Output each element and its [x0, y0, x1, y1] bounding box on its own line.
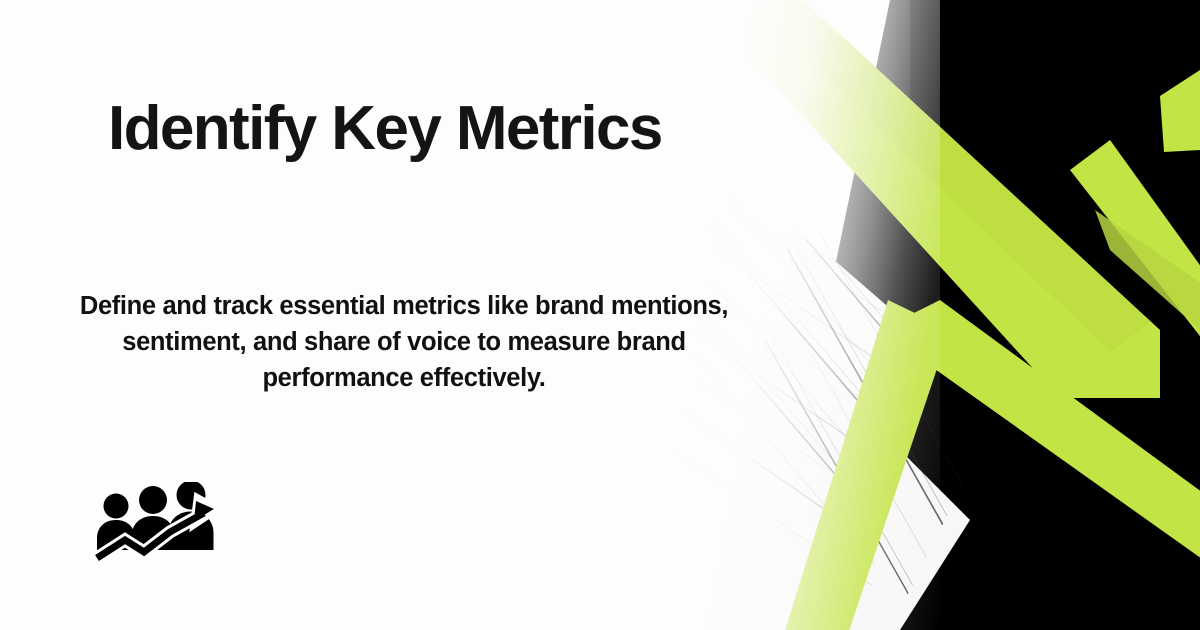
- page-subtitle: Define and track essential metrics like …: [64, 288, 744, 396]
- audience-growth-chart-icon: [92, 482, 228, 566]
- audience-growth-chart-icon-svg: [92, 482, 228, 566]
- content-column: Identify Key Metrics Define and track es…: [0, 0, 720, 630]
- page-title: Identify Key Metrics: [108, 94, 708, 164]
- slide-canvas: Identify Key Metrics Define and track es…: [0, 0, 1200, 630]
